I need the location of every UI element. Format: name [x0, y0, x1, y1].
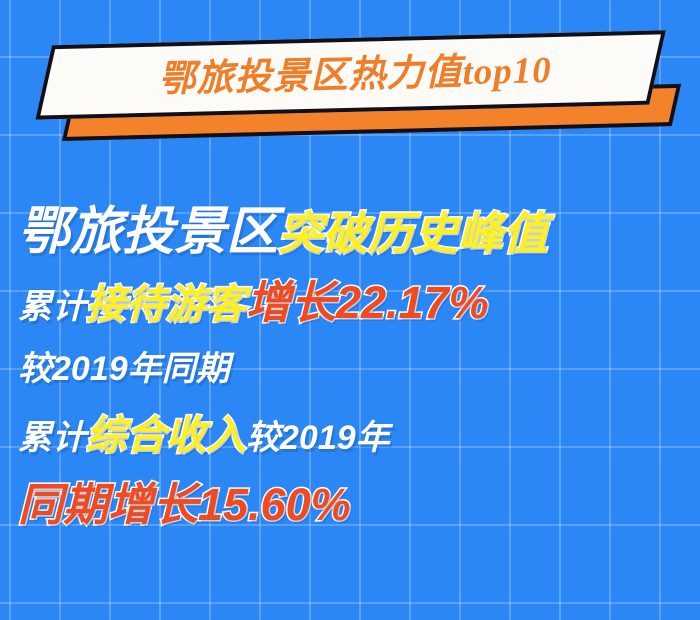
- line3-comparison-period: 较2019年同期: [18, 352, 230, 386]
- headline-line-3: 较2019年同期: [18, 352, 690, 386]
- header-banner: 鄂旅投景区热力值top10: [17, 28, 679, 152]
- headline-line-4: 累计综合收入较2019年: [18, 416, 690, 456]
- promo-poster: 鄂旅投景区热力值top10 鄂旅投景区突破历史峰值 累计接待游客增长22.17%…: [0, 0, 700, 620]
- headline-line-2: 累计接待游客增长22.17%: [18, 280, 690, 325]
- banner-face: 鄂旅投景区热力值top10: [35, 30, 665, 119]
- headline-line-1: 鄂旅投景区突破历史峰值: [18, 206, 690, 258]
- line4-revenue-label: 综合收入: [86, 416, 246, 456]
- line4-cumulative-label: 累计: [18, 421, 86, 455]
- headline-line-5: 同期增长15.60%: [18, 482, 690, 527]
- line2-visitor-growth-value: 增长22.17%: [246, 280, 489, 325]
- headline-copy: 鄂旅投景区突破历史峰值 累计接待游客增长22.17% 较2019年同期 累计综合…: [18, 206, 690, 527]
- line5-revenue-growth-value: 同期增长15.60%: [18, 482, 351, 527]
- banner-title-text: 鄂旅投景区热力值top10: [149, 52, 553, 99]
- line1-record-peak: 突破历史峰值: [278, 211, 548, 256]
- line1-org-name: 鄂旅投景区: [18, 206, 278, 258]
- line2-visitors-label: 接待游客: [86, 285, 246, 325]
- line4-comparison-year: 较2019年: [246, 421, 390, 455]
- line2-cumulative-label: 累计: [18, 290, 86, 324]
